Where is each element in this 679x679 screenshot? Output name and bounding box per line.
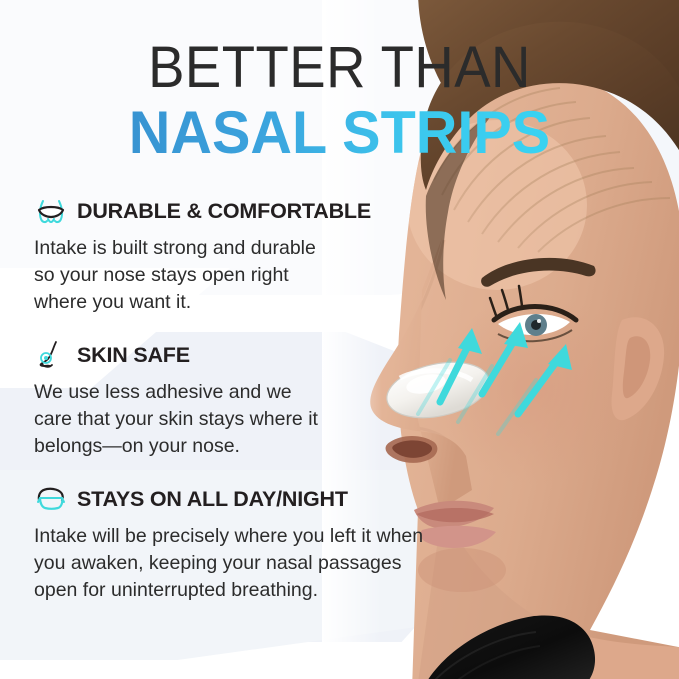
nose-profile-skin-safe-icon (34, 340, 68, 370)
product-marketing-image: BETTER THAN NASAL STRIPS DURABLE & COMFO… (0, 0, 679, 679)
feature-heading-row: DURABLE & COMFORTABLE (34, 196, 454, 226)
feature-body: We use less adhesive and we care that yo… (34, 379, 324, 460)
feature-title: STAYS ON ALL DAY/NIGHT (77, 487, 348, 512)
feature-item-stays-on: STAYS ON ALL DAY/NIGHT Intake will be pr… (34, 484, 454, 604)
feature-title: DURABLE & COMFORTABLE (77, 199, 371, 224)
feature-title: SKIN SAFE (77, 343, 190, 368)
feature-heading-row: SKIN SAFE (34, 340, 454, 370)
bed-sleep-icon (34, 484, 68, 514)
feature-heading-row: STAYS ON ALL DAY/NIGHT (34, 484, 454, 514)
feature-item-skin-safe: SKIN SAFE We use less adhesive and we ca… (34, 340, 454, 460)
feature-list: DURABLE & COMFORTABLE Intake is built st… (34, 196, 454, 628)
feature-item-durable: DURABLE & COMFORTABLE Intake is built st… (34, 196, 454, 316)
feature-body: Intake is built strong and durable so yo… (34, 235, 334, 316)
feature-body: Intake will be precisely where you left … (34, 523, 434, 604)
nose-front-strip-icon (34, 196, 68, 226)
